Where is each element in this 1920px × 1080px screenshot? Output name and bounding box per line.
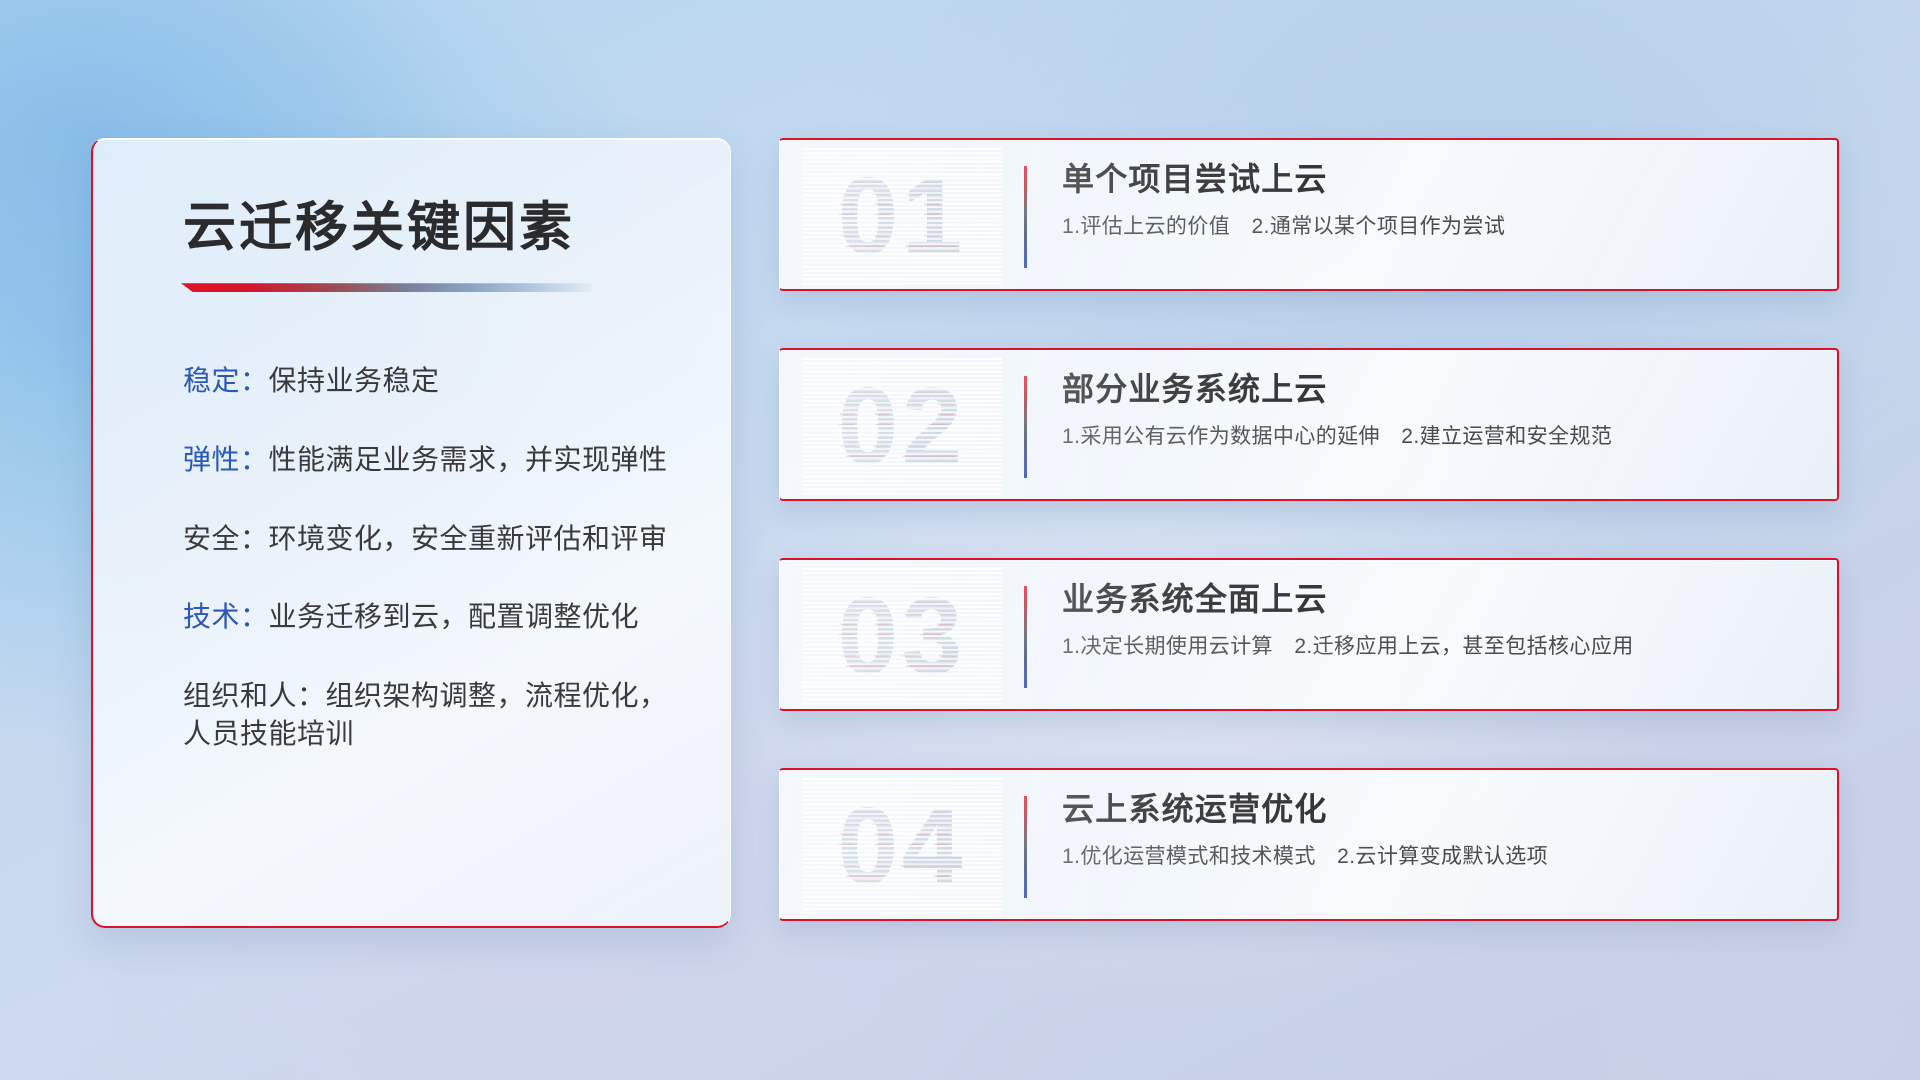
- card-body: 云上系统运营优化 1.优化运营模式和技术模式 2.云计算变成默认选项: [1062, 788, 1813, 872]
- stage-card-02[interactable]: 02 部分业务系统上云 1.采用公有云作为数据中心的延伸 2.建立运营和安全规范: [779, 348, 1839, 501]
- card-divider: [1024, 796, 1027, 898]
- stage-number-watermark: 02: [802, 356, 1002, 496]
- card-title: 部分业务系统上云: [1062, 368, 1813, 411]
- card-subtitle: 1.采用公有云作为数据中心的延伸 2.建立运营和安全规范: [1062, 423, 1813, 451]
- page-title: 云迁移关键因素: [183, 199, 730, 257]
- factor-label: 技术：: [183, 601, 269, 632]
- slide-stage: 云迁移关键因素 稳定：保持业务稳定 弹性：性能满足业务需求，并实现弹性 安全：环…: [0, 0, 1920, 1080]
- factor-label: 稳定：: [183, 365, 269, 396]
- card-divider: [1024, 586, 1027, 688]
- title-underline-rule: [181, 283, 591, 292]
- stage-number-watermark: 04: [802, 776, 1002, 916]
- factor-text: 环境变化，安全重新评估和评审: [269, 523, 668, 554]
- card-divider: [1024, 166, 1027, 268]
- stage-number-watermark: 03: [802, 566, 1002, 706]
- stage-number-watermark: 01: [802, 146, 1002, 286]
- card-divider: [1024, 376, 1027, 478]
- card-title: 单个项目尝试上云: [1062, 158, 1813, 201]
- stage-card-03[interactable]: 03 业务系统全面上云 1.决定长期使用云计算 2.迁移应用上云，甚至包括核心应…: [779, 558, 1839, 711]
- stage-card-01[interactable]: 01 单个项目尝试上云 1.评估上云的价值 2.通常以某个项目作为尝试: [779, 138, 1839, 291]
- list-item: 组织和人：组织架构调整，流程优化，人员技能培训: [93, 677, 730, 754]
- card-subtitle: 1.决定长期使用云计算 2.迁移应用上云，甚至包括核心应用: [1062, 633, 1813, 661]
- key-factors-list: 稳定：保持业务稳定 弹性：性能满足业务需求，并实现弹性 安全：环境变化，安全重新…: [93, 362, 730, 754]
- migration-stage-cards: 01 单个项目尝试上云 1.评估上云的价值 2.通常以某个项目作为尝试 02 部…: [779, 138, 1839, 978]
- card-title: 业务系统全面上云: [1062, 578, 1813, 621]
- factor-label: 安全：: [183, 523, 269, 554]
- key-factors-panel: 云迁移关键因素 稳定：保持业务稳定 弹性：性能满足业务需求，并实现弹性 安全：环…: [91, 138, 731, 928]
- stage-card-04[interactable]: 04 云上系统运营优化 1.优化运营模式和技术模式 2.云计算变成默认选项: [779, 768, 1839, 921]
- list-item: 弹性：性能满足业务需求，并实现弹性: [93, 441, 730, 480]
- factor-label: 组织和人：: [183, 680, 326, 711]
- card-body: 单个项目尝试上云 1.评估上云的价值 2.通常以某个项目作为尝试: [1062, 158, 1813, 242]
- card-body: 部分业务系统上云 1.采用公有云作为数据中心的延伸 2.建立运营和安全规范: [1062, 368, 1813, 452]
- card-subtitle: 1.优化运营模式和技术模式 2.云计算变成默认选项: [1062, 843, 1813, 871]
- list-item: 技术：业务迁移到云，配置调整优化: [93, 598, 730, 637]
- list-item: 稳定：保持业务稳定: [93, 362, 730, 401]
- factor-text: 保持业务稳定: [269, 365, 440, 396]
- factor-text: 业务迁移到云，配置调整优化: [269, 601, 640, 632]
- card-subtitle: 1.评估上云的价值 2.通常以某个项目作为尝试: [1062, 213, 1813, 241]
- factor-text: 性能满足业务需求，并实现弹性: [269, 444, 668, 475]
- list-item: 安全：环境变化，安全重新评估和评审: [93, 520, 730, 559]
- card-title: 云上系统运营优化: [1062, 788, 1813, 831]
- factor-label: 弹性：: [183, 444, 269, 475]
- card-body: 业务系统全面上云 1.决定长期使用云计算 2.迁移应用上云，甚至包括核心应用: [1062, 578, 1813, 662]
